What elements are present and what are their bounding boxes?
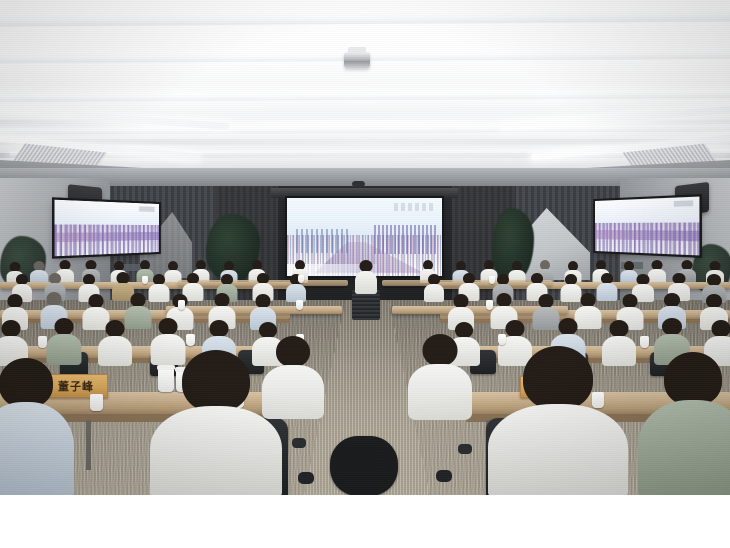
head <box>8 294 23 308</box>
head <box>538 294 553 308</box>
head <box>46 292 61 306</box>
head <box>712 320 730 337</box>
head <box>706 294 722 308</box>
left-led-screen <box>55 200 159 257</box>
head <box>558 318 577 335</box>
torso <box>638 400 730 495</box>
chair-caster <box>330 436 398 495</box>
teacup <box>296 300 303 310</box>
chair-caster-icon <box>458 444 472 454</box>
screenshot-root: 董子峰 张建华 <box>0 0 730 548</box>
chair-caster-icon <box>298 472 314 484</box>
ceiling-projector-icon <box>344 52 370 68</box>
head <box>622 294 637 308</box>
head <box>523 346 593 410</box>
head <box>662 318 682 335</box>
teacup <box>498 334 506 345</box>
torso <box>408 364 472 420</box>
screen-logo-watermark <box>674 200 693 206</box>
torso <box>98 336 132 366</box>
head <box>610 320 629 337</box>
head <box>664 352 722 406</box>
head <box>454 294 469 308</box>
teacup <box>486 300 493 310</box>
right-led-screen <box>595 197 699 256</box>
ceiling <box>0 0 730 190</box>
torso <box>488 404 628 495</box>
screen-logo-watermark <box>139 206 154 212</box>
head <box>664 293 680 307</box>
conference-room-photo: 董子峰 张建华 <box>0 0 730 495</box>
ceiling-light-strip <box>0 9 730 27</box>
teacup <box>178 300 185 310</box>
head <box>423 334 458 366</box>
screen-buildings-right <box>374 225 436 255</box>
chair-caster-icon <box>436 470 452 482</box>
head <box>88 294 103 308</box>
head <box>106 320 125 337</box>
screen-logo-watermark <box>394 203 436 211</box>
torso <box>150 406 282 495</box>
head <box>54 318 73 335</box>
head <box>214 293 229 307</box>
screen-sky <box>55 200 159 226</box>
foreground-attendee-far-left <box>0 358 74 495</box>
main-screen-top-bezel <box>271 188 458 198</box>
head <box>276 336 310 367</box>
head <box>580 293 595 307</box>
head <box>256 294 271 308</box>
foreground-attendee-right <box>488 346 628 495</box>
foreground-attendee-far-right <box>638 352 730 495</box>
teacup <box>489 276 495 284</box>
head <box>506 320 525 337</box>
head <box>130 293 145 307</box>
head <box>210 320 229 337</box>
teacup <box>90 394 103 411</box>
video-conference-camera-icon <box>352 181 365 187</box>
audience-member-aisle-left <box>262 336 324 418</box>
teacup <box>186 334 195 346</box>
chair-caster-icon <box>292 438 306 448</box>
page-bottom-whitespace <box>0 495 730 548</box>
teacup <box>640 336 649 348</box>
head <box>2 320 21 337</box>
desk-leg <box>86 420 91 470</box>
audience-member <box>98 320 132 364</box>
torso <box>262 365 324 419</box>
head <box>158 318 177 335</box>
teacup <box>298 275 304 283</box>
head <box>0 358 53 408</box>
ceiling-light-strip <box>0 90 730 102</box>
teacup <box>38 336 47 348</box>
head <box>182 350 250 412</box>
torso <box>0 402 74 495</box>
teacup <box>142 276 148 284</box>
head <box>496 293 511 307</box>
audience-member-aisle-right <box>408 334 472 418</box>
